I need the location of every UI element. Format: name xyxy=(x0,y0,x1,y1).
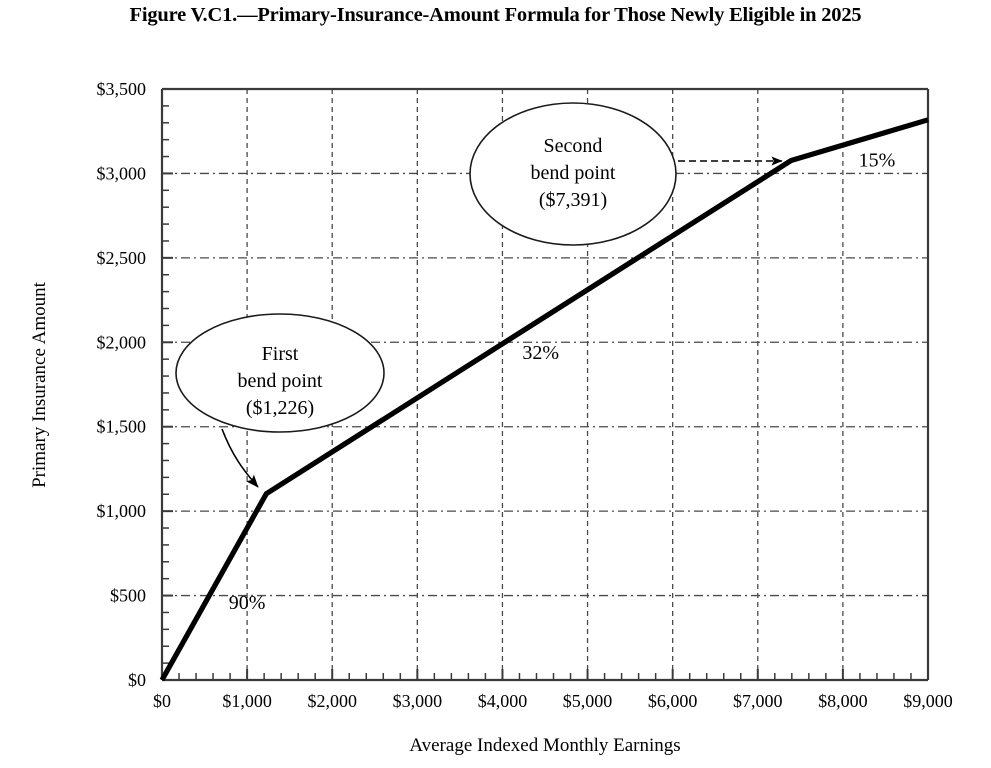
percent-label: 90% xyxy=(229,592,266,614)
y-tick-label: $2,500 xyxy=(97,248,147,268)
y-tick-labels: $0$500$1,000$1,500$2,000$2,500$3,000$3,5… xyxy=(97,79,147,690)
first-bend-callout-line-3: ($1,226) xyxy=(246,397,314,419)
x-axis-title: Average Indexed Monthly Earnings xyxy=(409,735,680,756)
pia-formula-chart: $0$1,000$2,000$3,000$4,000$5,000$6,000$7… xyxy=(0,0,991,768)
second-bend-callout-line-1: Second xyxy=(544,135,603,157)
x-tick-label: $2,000 xyxy=(307,691,357,711)
x-tick-label: $7,000 xyxy=(733,691,783,711)
second-bend-callout-line-2: bend point xyxy=(531,162,616,184)
x-tick-label: $9,000 xyxy=(903,691,953,711)
percent-label: 32% xyxy=(522,342,559,364)
y-tick-label: $1,000 xyxy=(97,501,147,521)
y-tick-label: $0 xyxy=(128,670,146,690)
y-tick-label: $500 xyxy=(110,586,146,606)
second-bend-callout-line-3: ($7,391) xyxy=(539,189,607,211)
x-tick-labels: $0$1,000$2,000$3,000$4,000$5,000$6,000$7… xyxy=(153,691,953,711)
percent-label: 15% xyxy=(859,150,896,172)
y-tick-label: $3,500 xyxy=(97,79,147,99)
y-tick-label: $3,000 xyxy=(97,163,147,183)
first-bend-callout-line-2: bend point xyxy=(238,370,323,392)
x-tick-label: $4,000 xyxy=(478,691,528,711)
x-tick-label: $8,000 xyxy=(818,691,868,711)
x-tick-label: $0 xyxy=(153,691,171,711)
y-tick-label: $1,500 xyxy=(97,417,147,437)
x-tick-label: $6,000 xyxy=(648,691,698,711)
y-tick-label: $2,000 xyxy=(97,332,147,352)
x-tick-label: $3,000 xyxy=(393,691,443,711)
y-axis-title: Primary Insurance Amount xyxy=(29,281,50,488)
first-bend-callout-line-1: First xyxy=(262,343,299,365)
x-tick-label: $5,000 xyxy=(563,691,613,711)
x-tick-label: $1,000 xyxy=(222,691,272,711)
